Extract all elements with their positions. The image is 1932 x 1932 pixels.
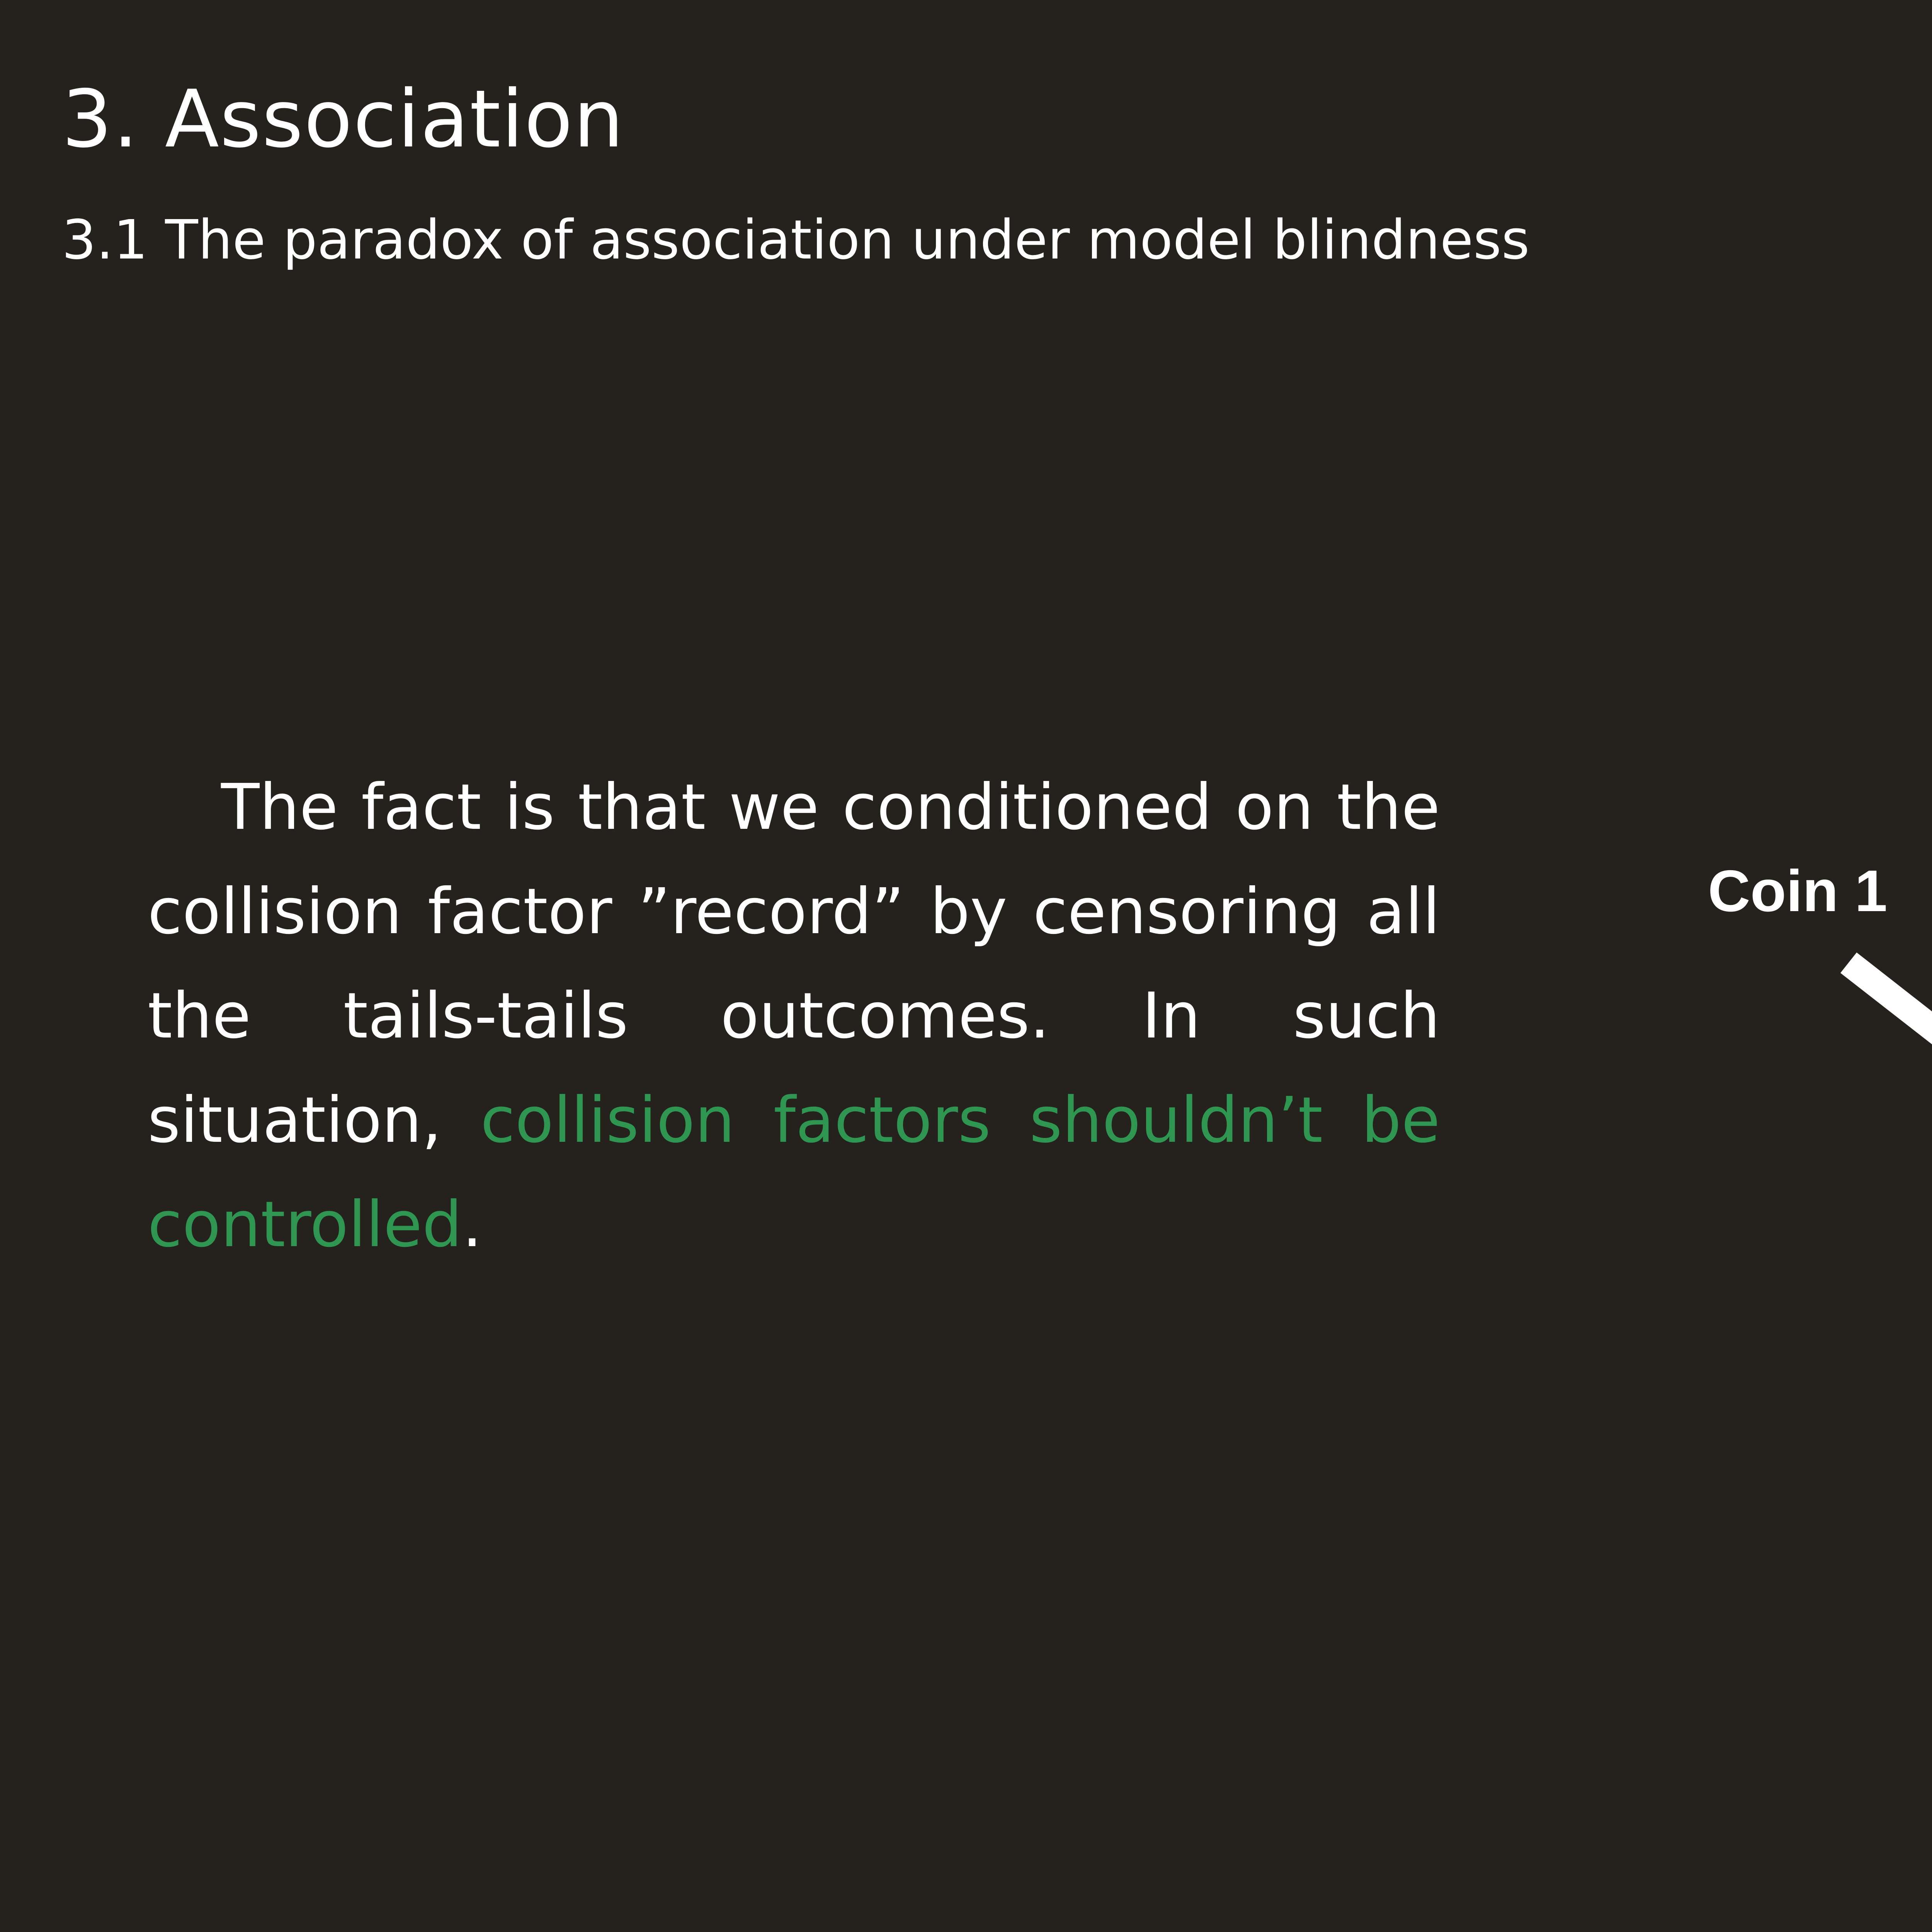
page-title: 3. Association — [62, 73, 624, 165]
body-paragraph: The fact is that we conditioned on the c… — [148, 755, 1440, 1277]
page-subtitle: 3.1 The paradox of association under mod… — [62, 209, 1530, 272]
collider-diagram: Coin 1 Coin 2 record — [1681, 842, 1932, 1159]
arrow-coin1-to-record — [1840, 952, 1932, 1078]
body-text-part-3: . — [462, 1188, 482, 1261]
slide-canvas: 3. Association 3.1 The paradox of associ… — [0, 0, 1932, 1932]
diagram-arrows — [1681, 842, 1932, 1159]
